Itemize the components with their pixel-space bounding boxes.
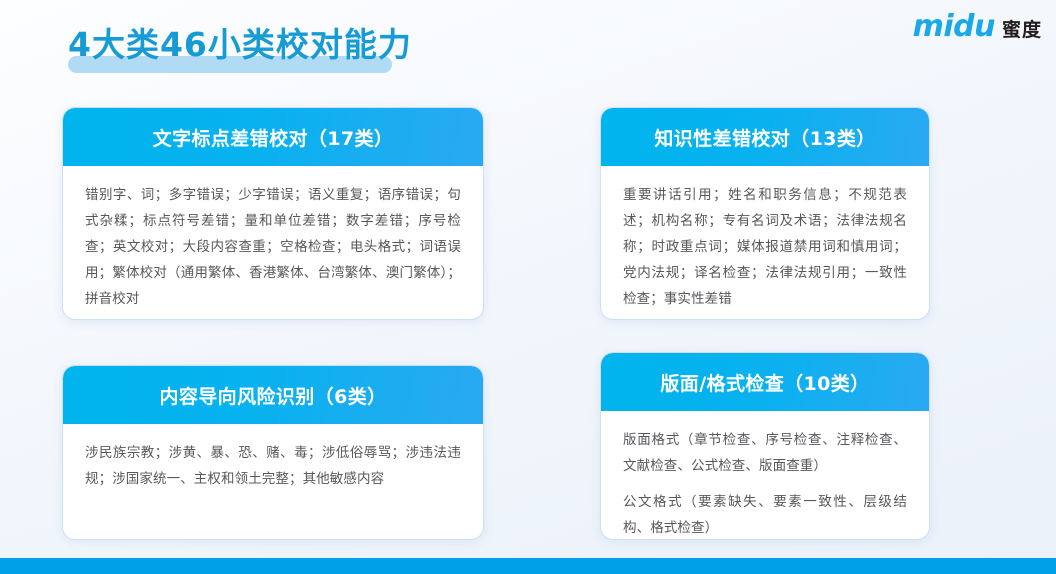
card-header-text: 内容导向风险识别（6类） (159, 382, 386, 409)
slide-canvas: midu 蜜度 4大类46小类校对能力 文字标点差错校对（17类） 错别字、词；… (0, 0, 1056, 574)
card-header: 版面/格式检查（10类） (601, 353, 929, 411)
page-title-text: 4大类46小类校对能力 (68, 22, 412, 68)
card-body: 重要讲话引用；姓名和职务信息；不规范表述；机构名称；专有名词及术语；法律法规名称… (601, 166, 929, 320)
card-header: 内容导向风险识别（6类） (63, 366, 483, 424)
card-body-paragraph: 公文格式（要素缺失、要素一致性、层级结构、格式检查） (623, 489, 907, 540)
brand-logo-chinese: 蜜度 (1002, 21, 1042, 40)
page-title: 4大类46小类校对能力 (68, 22, 412, 78)
card-header-text: 版面/格式检查（10类） (660, 369, 869, 396)
card-body: 版面格式（章节检查、序号检查、注释检查、文献检查、公式检查、版面查重） 公文格式… (601, 411, 929, 540)
card-body-paragraph: 版面格式（章节检查、序号检查、注释检查、文献检查、公式检查、版面查重） (623, 427, 907, 479)
capability-card-layout-format: 版面/格式检查（10类） 版面格式（章节检查、序号检查、注释检查、文献检查、公式… (600, 352, 930, 540)
capability-card-content-risk: 内容导向风险识别（6类） 涉民族宗教；涉黄、暴、恐、赌、毒；涉低俗辱骂；涉违法违… (62, 365, 484, 540)
card-header: 文字标点差错校对（17类） (63, 108, 483, 166)
brand-logo: midu 蜜度 (913, 12, 1042, 46)
card-body: 涉民族宗教；涉黄、暴、恐、赌、毒；涉低俗辱骂；涉违法违规；涉国家统一、主权和领土… (63, 424, 483, 510)
card-body-paragraph: 错别字、词；多字错误；少字错误；语义重复；语序错误；句式杂糅；标点符号差错；量和… (85, 182, 461, 312)
card-header-text: 知识性差错校对（13类） (654, 124, 875, 151)
card-header: 知识性差错校对（13类） (601, 108, 929, 166)
card-body-paragraph: 重要讲话引用；姓名和职务信息；不规范表述；机构名称；专有名词及术语；法律法规名称… (623, 182, 907, 312)
card-body: 错别字、词；多字错误；少字错误；语义重复；语序错误；句式杂糅；标点符号差错；量和… (63, 166, 483, 320)
brand-logo-mark: midu (913, 12, 995, 42)
card-header-text: 文字标点差错校对（17类） (153, 124, 394, 151)
card-body-paragraph: 涉民族宗教；涉黄、暴、恐、赌、毒；涉低俗辱骂；涉违法违规；涉国家统一、主权和领土… (85, 440, 461, 492)
capability-card-knowledge: 知识性差错校对（13类） 重要讲话引用；姓名和职务信息；不规范表述；机构名称；专… (600, 107, 930, 320)
footer-accent-bar (0, 558, 1056, 574)
capability-card-text-punctuation: 文字标点差错校对（17类） 错别字、词；多字错误；少字错误；语义重复；语序错误；… (62, 107, 484, 320)
